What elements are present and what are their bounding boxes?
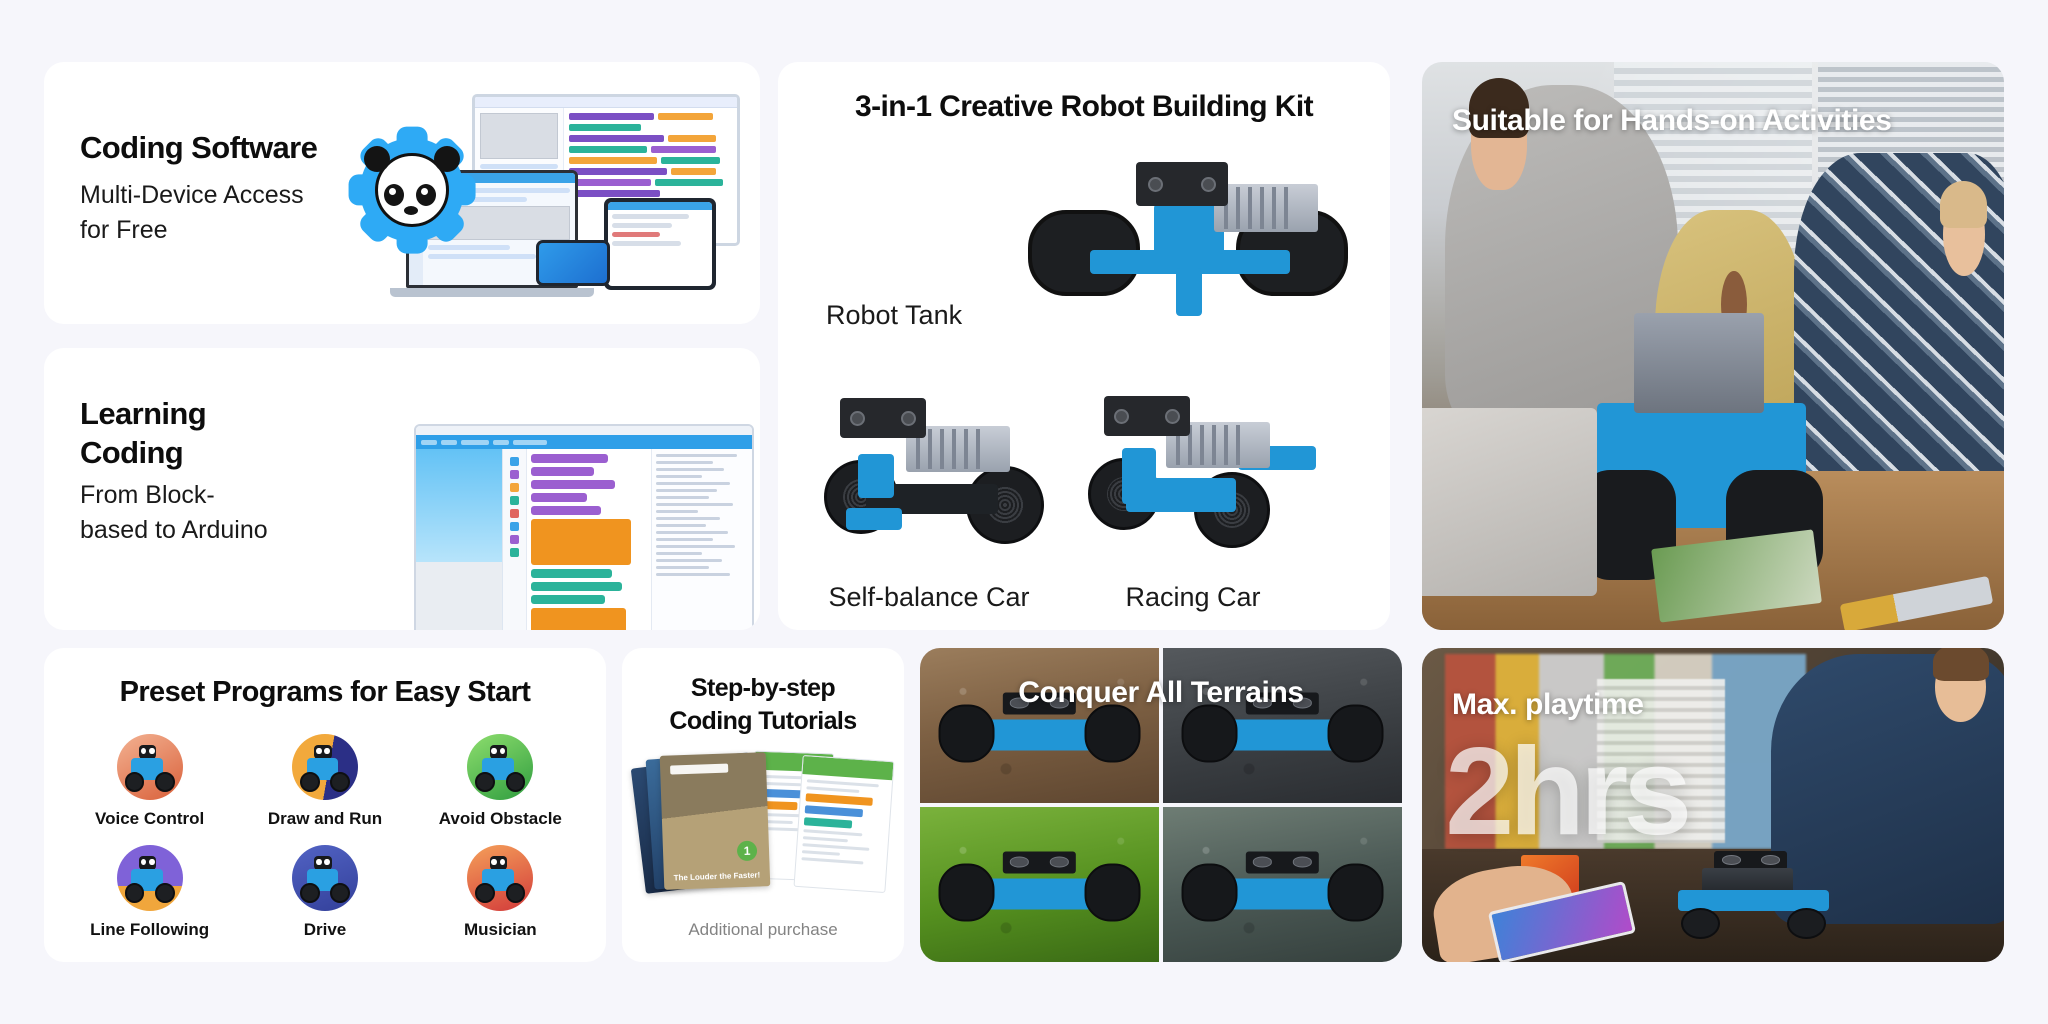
preset-program-draw-and-run[interactable]: Draw and Run xyxy=(237,734,412,829)
preset-program-label: Voice Control xyxy=(95,809,204,829)
terrain-tile-grass xyxy=(920,807,1159,962)
voice-control-icon xyxy=(117,734,183,800)
phone-mockup xyxy=(536,240,610,286)
preset-program-avoid-obstacle[interactable]: Avoid Obstacle xyxy=(413,734,588,829)
book-caption: The Louder the Faster! xyxy=(664,870,770,883)
preset-program-label: Line Following xyxy=(90,920,209,940)
preset-programs-title: Preset Programs for Easy Start xyxy=(44,676,606,709)
preset-programs-grid: Voice Control Draw and Run Avoid Obstacl… xyxy=(62,734,588,940)
draw-and-run-icon xyxy=(292,734,358,800)
multi-device-illustration xyxy=(354,90,744,300)
card-preset-programs: Preset Programs for Easy Start Voice Con… xyxy=(44,648,606,962)
kit-title: 3-in-1 Creative Robot Building Kit xyxy=(778,90,1390,124)
learning-coding-title-line1: Learning xyxy=(80,394,206,433)
coding-software-title: Coding Software xyxy=(80,130,317,166)
racing-car-image xyxy=(1086,392,1316,562)
coding-software-subtitle-line1: Multi-Device Access xyxy=(80,178,304,213)
learning-coding-subtitle-line2: based to Arduino xyxy=(80,513,268,548)
preset-program-musician[interactable]: Musician xyxy=(413,845,588,940)
robot-tank-label: Robot Tank xyxy=(826,300,962,331)
panda-mascot-icon xyxy=(360,138,464,242)
robot-tank-image xyxy=(1028,158,1348,328)
tutorial-book-cover: 1 The Louder the Faster! xyxy=(660,752,771,890)
playtime-duration-overlay: 2hrs xyxy=(1445,730,1911,854)
learning-coding-subtitle-line1: From Block- xyxy=(80,478,268,513)
terrain-tile-pebbles xyxy=(1163,807,1402,962)
card-coding-tutorials: Step-by-step Coding Tutorials xyxy=(622,648,904,962)
avoid-obstacle-icon xyxy=(467,734,533,800)
card-conquer-all-terrains: Conquer All Terrains xyxy=(920,648,1402,962)
terrain-tile-asphalt xyxy=(1163,648,1402,803)
terrains-title: Conquer All Terrains xyxy=(920,676,1402,710)
coding-software-subtitle: Multi-Device Access for Free xyxy=(80,178,304,248)
drive-icon xyxy=(292,845,358,911)
makeblock-logo xyxy=(670,764,728,775)
learning-coding-subtitle: From Block- based to Arduino xyxy=(80,478,268,548)
preset-program-label: Musician xyxy=(464,920,537,940)
terrain-tile-dirt xyxy=(920,648,1159,803)
tutorials-caption: Additional purchase xyxy=(622,920,904,940)
learning-coding-title: Learning Coding xyxy=(80,394,206,472)
preset-program-label: Avoid Obstacle xyxy=(439,809,562,829)
preset-program-drive[interactable]: Drive xyxy=(237,845,412,940)
card-max-playtime: 2hrs Max. playtime xyxy=(1422,648,2004,962)
line-following-icon xyxy=(117,845,183,911)
preset-program-voice-control[interactable]: Voice Control xyxy=(62,734,237,829)
self-balance-car-image xyxy=(824,392,1044,562)
racing-car-label: Racing Car xyxy=(1068,582,1318,613)
preset-program-line-following[interactable]: Line Following xyxy=(62,845,237,940)
card-hands-on-activities: Suitable for Hands-on Activities xyxy=(1422,62,2004,630)
musician-icon xyxy=(467,845,533,911)
preset-program-label: Draw and Run xyxy=(268,809,382,829)
ide-screenshot xyxy=(414,424,754,630)
tutorial-booklets-image: 1 The Louder the Faster! xyxy=(632,748,894,896)
tablet-mockup xyxy=(604,198,716,290)
tutorials-title: Step-by-step Coding Tutorials xyxy=(622,672,904,738)
card-learning-coding: Learning Coding From Block- based to Ard… xyxy=(44,348,760,630)
learning-coding-title-line2: Coding xyxy=(80,433,206,472)
card-coding-software: Coding Software Multi-Device Access for … xyxy=(44,62,760,324)
preset-program-label: Drive xyxy=(304,920,347,940)
product-feature-grid: Coding Software Multi-Device Access for … xyxy=(0,0,2048,1024)
hands-on-title: Suitable for Hands-on Activities xyxy=(1452,104,1892,138)
playtime-title: Max. playtime xyxy=(1452,688,1644,722)
tutorial-sheet xyxy=(794,755,895,893)
book-number: 1 xyxy=(737,841,758,862)
hands-on-photo xyxy=(1422,62,2004,630)
tutorials-title-line2: Coding Tutorials xyxy=(622,705,904,738)
coding-software-subtitle-line2: for Free xyxy=(80,213,304,248)
tutorials-title-line1: Step-by-step xyxy=(622,672,904,705)
self-balance-car-label: Self-balance Car xyxy=(804,582,1054,613)
card-robot-kit: 3-in-1 Creative Robot Building Kit xyxy=(778,62,1390,630)
